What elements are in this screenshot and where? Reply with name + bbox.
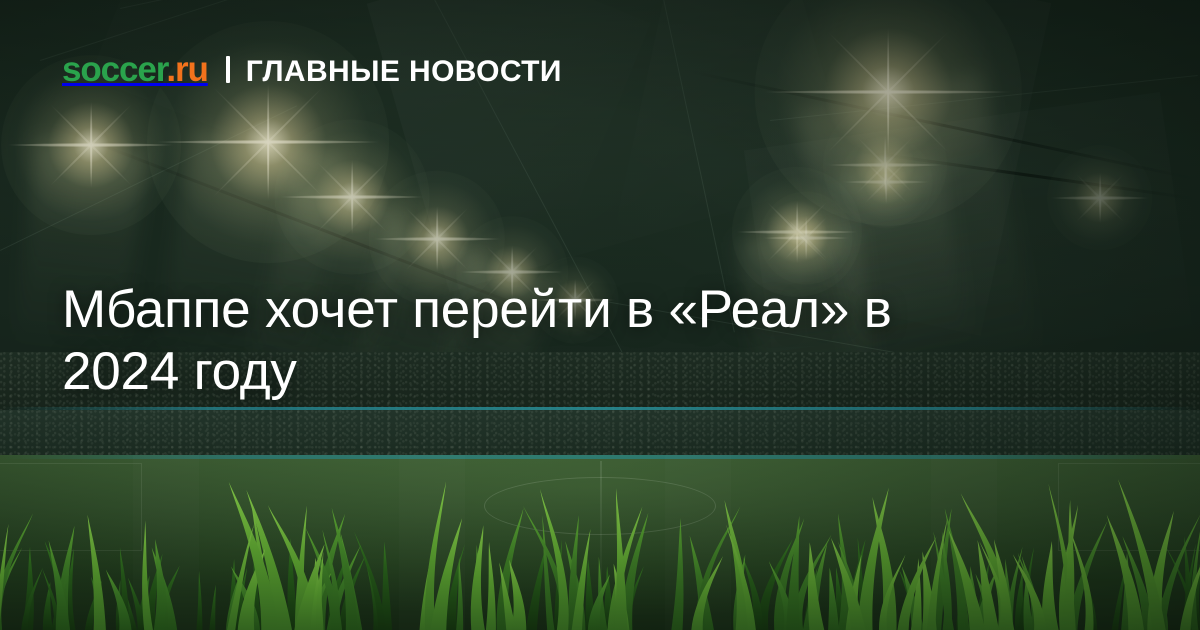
soccer-ru-logo[interactable]: soccer.ru (62, 52, 208, 87)
logo-text-green: soccer (62, 50, 166, 89)
brand-divider (226, 56, 230, 83)
news-share-card: soccer.ru ГЛАВНЫЕ НОВОСТИ Мбаппе хочет п… (0, 0, 1200, 630)
logo-text-orange: .ru (166, 50, 207, 89)
page-title: Мбаппе хочет перейти в «Реал» в 2024 год… (62, 279, 1072, 403)
brand-bar: soccer.ru ГЛАВНЫЕ НОВОСТИ (62, 52, 562, 87)
headline-line: 2024 году (62, 341, 1072, 403)
card-content: soccer.ru ГЛАВНЫЕ НОВОСТИ Мбаппе хочет п… (0, 0, 1200, 630)
section-kicker: ГЛАВНЫЕ НОВОСТИ (246, 57, 562, 87)
headline-line: Мбаппе хочет перейти в «Реал» в (62, 279, 1072, 341)
